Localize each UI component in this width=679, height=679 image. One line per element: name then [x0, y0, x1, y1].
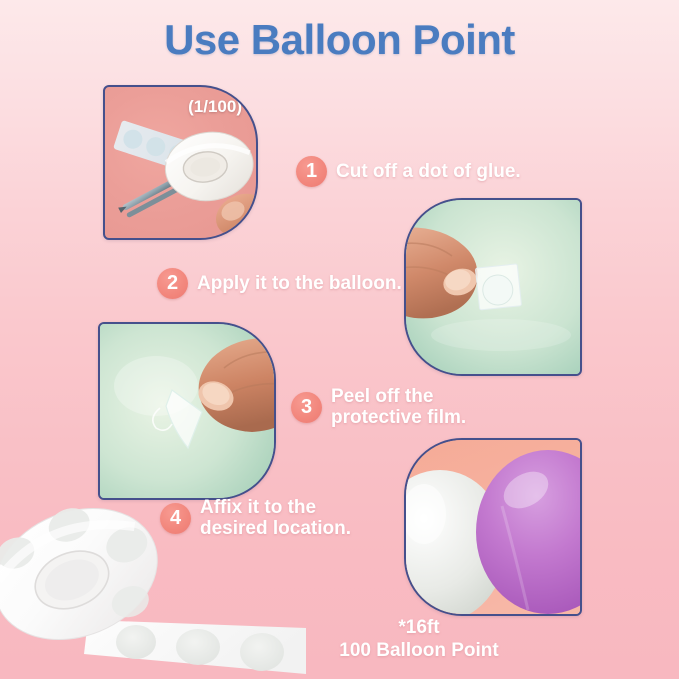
photo-panel-step-1: (1/100): [103, 85, 258, 240]
step-1-text: Cut off a dot of glue.: [336, 161, 521, 182]
step-3: 3 Peel off the protective film.: [291, 386, 466, 429]
tape-roll-icon: [0, 492, 306, 679]
step-2-badge: 2: [157, 268, 188, 299]
step-2-text: Apply it to the balloon.: [197, 273, 402, 294]
step-1: 1 Cut off a dot of glue.: [296, 156, 521, 187]
photo-panel-step-4: [404, 438, 582, 616]
step-3-text: Peel off the protective film.: [331, 386, 466, 429]
step-3-badge: 3: [291, 392, 322, 423]
fraction-label: (1/100): [188, 97, 242, 117]
photo-panel-step-3: [98, 322, 276, 500]
attached-balloons-icon: [406, 440, 582, 616]
step-2: 2 Apply it to the balloon.: [157, 268, 402, 299]
product-caption: *16ft 100 Balloon Point: [269, 617, 569, 663]
product-count: 100 Balloon Point: [269, 640, 569, 663]
product-length: *16ft: [269, 617, 569, 640]
step-1-badge: 1: [296, 156, 327, 187]
page-title: Use Balloon Point: [0, 16, 679, 64]
balloon-point-instruction-poster: Use Balloon Point: [0, 0, 679, 679]
hand-peeling-protective-film-icon: [100, 324, 276, 500]
photo-panel-step-2: [404, 198, 582, 376]
hand-holding-glue-dot-on-balloon-icon: [406, 200, 582, 376]
